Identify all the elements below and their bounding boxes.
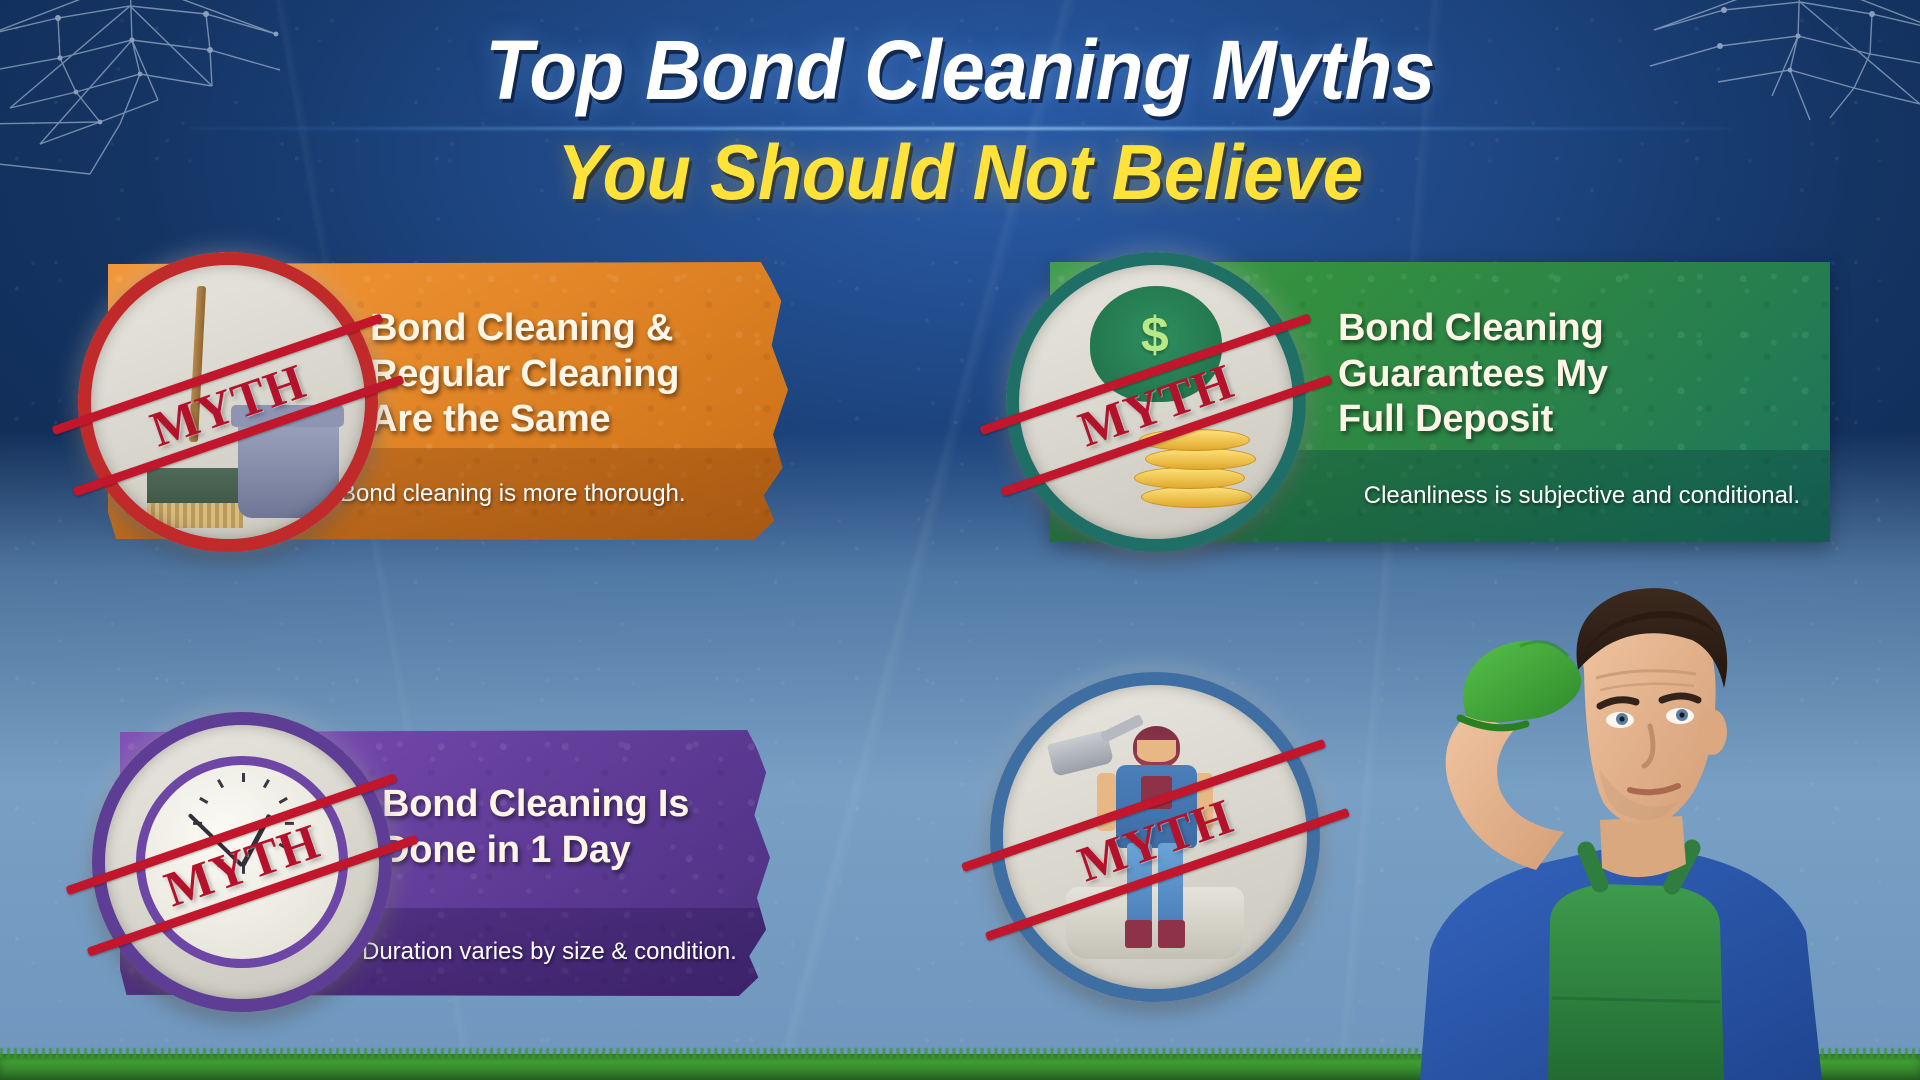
confused-cleaner-photo [1300,520,1920,1080]
card-title-line-2: Guarantees My [1338,352,1608,398]
myth-badge[interactable]: MYTH [990,672,1320,1002]
myth-badge[interactable]: $ MYTH [1006,252,1306,552]
title-line-1: Top Bond Cleaning Myths [67,26,1853,114]
card-title-line-1: Bond Cleaning Is [382,782,689,828]
myth-card-3[interactable]: Duration varies by size & condition. Bon… [120,730,932,996]
myth-card-4[interactable]: MYTH [990,672,1330,1012]
myth-card-1[interactable]: Bond cleaning is more thorough. Bond Cle… [108,262,928,540]
myth-card-2[interactable]: Cleanliness is subjective and conditiona… [1050,262,1920,542]
card-title: Bond Cleaning & Regular Cleaning Are the… [370,306,679,443]
title-line-2: You Should Not Believe [67,132,1853,214]
infographic-canvas: Top Bond Cleaning Myths You Should Not B… [0,0,1920,1080]
card-title-line-2: Done in 1 Day [382,828,689,874]
myth-badge[interactable]: MYTH [78,252,378,552]
card-title-line-1: Bond Cleaning [1338,306,1608,352]
card-caption: Bond cleaning is more thorough. [340,480,686,508]
card-caption: Cleanliness is subjective and conditiona… [1364,482,1800,510]
card-title-line-3: Full Deposit [1338,397,1608,443]
card-title-line-2: Regular Cleaning [370,352,679,398]
page-title: Top Bond Cleaning Myths You Should Not B… [0,26,1920,214]
myth-badge[interactable]: MYTH [92,712,392,1012]
title-divider-glow [190,126,1730,131]
card-title: Bond Cleaning Guarantees My Full Deposit [1338,306,1608,443]
card-title-line-1: Bond Cleaning & [370,306,679,352]
card-title: Bond Cleaning Is Done in 1 Day [382,782,689,873]
card-title-line-3: Are the Same [370,397,679,443]
card-caption: Duration varies by size & condition. [362,938,737,966]
